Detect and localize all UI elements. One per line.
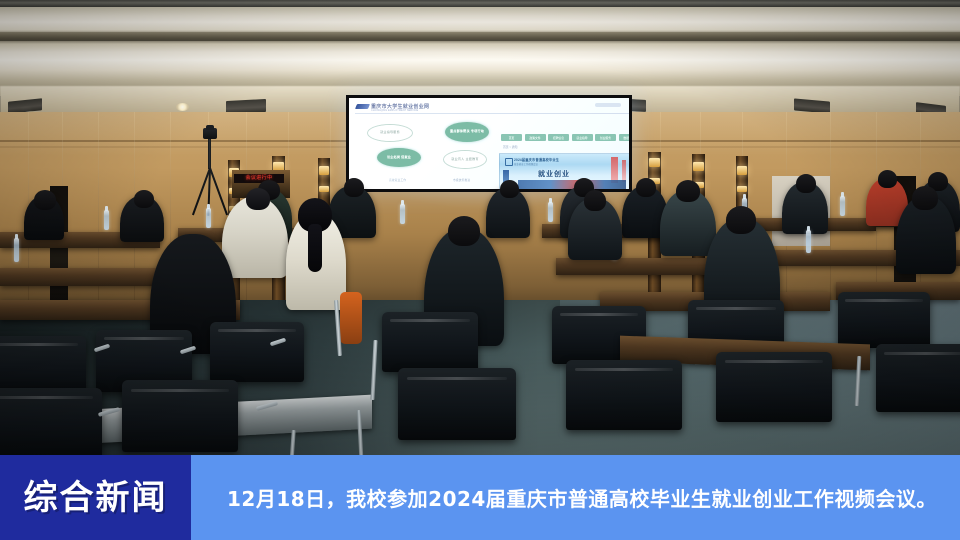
attendee-head bbox=[796, 174, 816, 193]
diagram-bubble: 重点群体帮扶 专项行动 bbox=[445, 122, 489, 142]
site-nav-item: 创业服务 bbox=[595, 134, 616, 141]
video-camera-icon bbox=[203, 128, 217, 139]
banner-big-text: 就业创业 bbox=[538, 169, 570, 179]
site-nav-item: 首页 bbox=[501, 134, 522, 141]
attendee-head bbox=[448, 216, 480, 246]
water-bottle bbox=[548, 202, 553, 222]
tripod-leg bbox=[209, 168, 228, 216]
chair bbox=[122, 380, 238, 452]
water-bottle bbox=[840, 196, 845, 216]
attendee-head bbox=[878, 170, 897, 188]
ceiling-beam-lower bbox=[0, 32, 960, 41]
chair bbox=[210, 322, 304, 382]
water-bottle bbox=[104, 210, 109, 230]
projected-webpage: 重庆市大学生就业创业网 CHONGQING EMPLOYMENT SERVICE… bbox=[349, 98, 629, 189]
diagram-bubble: 访企拓岗 促就业 bbox=[377, 148, 421, 167]
attendee-head bbox=[584, 190, 606, 211]
chair bbox=[0, 388, 102, 458]
attendee-head bbox=[34, 190, 56, 210]
water-bottle bbox=[206, 208, 211, 228]
chair bbox=[566, 360, 682, 430]
attendee-head bbox=[134, 190, 154, 208]
diagram-bubble: 就业育人 主题教育 bbox=[443, 150, 487, 169]
attendee-head bbox=[912, 186, 938, 210]
ceiling-beam-upper bbox=[0, 0, 960, 7]
site-search-box bbox=[595, 103, 621, 107]
banner-subhead: 就业创业工作视频会议 bbox=[514, 162, 538, 166]
banner-logo-icon bbox=[505, 158, 513, 166]
site-logo-subtext: CHONGQING EMPLOYMENT SERVICE bbox=[371, 109, 418, 112]
site-nav: 首页 政策文件 招聘信息 就业指导 创业服务 数据统计 bbox=[501, 134, 629, 141]
diagram-bubble: 就业指导服务 bbox=[367, 124, 413, 142]
podium-led-display: 会议进行中 bbox=[234, 174, 284, 183]
site-logo-mark bbox=[355, 104, 370, 109]
water-bottle bbox=[14, 238, 19, 262]
attendee-head bbox=[676, 180, 700, 202]
diagram-caption: 高校就业工作 bbox=[389, 178, 406, 182]
site-header-divider bbox=[355, 113, 629, 114]
attendee-ponytail bbox=[308, 224, 322, 272]
podium-led-text: 会议进行中 bbox=[234, 174, 284, 183]
tripod-column bbox=[208, 139, 211, 169]
camera-tripod bbox=[188, 128, 232, 218]
projection-screen: 重庆市大学生就业创业网 CHONGQING EMPLOYMENT SERVICE… bbox=[346, 95, 632, 192]
ceiling-downlight bbox=[176, 103, 189, 111]
water-bottle bbox=[806, 230, 811, 253]
news-category-block: 综合新闻 bbox=[0, 455, 191, 540]
news-caption-block: 12月18日，我校参加2024届重庆市普通高校毕业生就业创业工作视频会议。 bbox=[191, 455, 960, 540]
orange-bag bbox=[340, 292, 362, 344]
screenshot-root: 重庆市大学生就业创业网 CHONGQING EMPLOYMENT SERVICE… bbox=[0, 0, 960, 540]
site-hero-banner: 2024届重庆市普通高校毕业生 就业创业工作视频会议 就业创业 bbox=[499, 153, 629, 189]
chair bbox=[876, 344, 960, 412]
attendee-head bbox=[344, 178, 364, 197]
site-nav-item: 就业指导 bbox=[572, 134, 593, 141]
attendee-head bbox=[500, 180, 519, 198]
chair bbox=[838, 292, 930, 348]
chair bbox=[398, 368, 516, 440]
site-logo: 重庆市大学生就业创业网 CHONGQING EMPLOYMENT SERVICE bbox=[356, 103, 429, 110]
news-caption-text: 12月18日，我校参加2024届重庆市普通高校毕业生就业创业工作视频会议。 bbox=[191, 483, 937, 512]
water-bottle bbox=[400, 204, 405, 224]
chair bbox=[716, 352, 832, 422]
banner-decoration bbox=[622, 160, 626, 182]
site-breadcrumb: 首页 > 通知 bbox=[503, 145, 517, 149]
chair bbox=[382, 312, 478, 372]
diagram-caption: 市级统筹推进 bbox=[453, 178, 470, 182]
lower-third-banner: 综合新闻 12月18日，我校参加2024届重庆市普通高校毕业生就业创业工作视频会… bbox=[0, 455, 960, 540]
attendee-head bbox=[726, 206, 756, 234]
site-nav-item: 数据统计 bbox=[619, 134, 630, 141]
site-nav-item: 招聘信息 bbox=[548, 134, 569, 141]
ceiling bbox=[0, 0, 960, 96]
site-nav-item: 政策文件 bbox=[525, 134, 546, 141]
news-category-label: 综合新闻 bbox=[24, 481, 168, 515]
attendee-head bbox=[246, 188, 270, 210]
attendee-head bbox=[636, 178, 656, 197]
